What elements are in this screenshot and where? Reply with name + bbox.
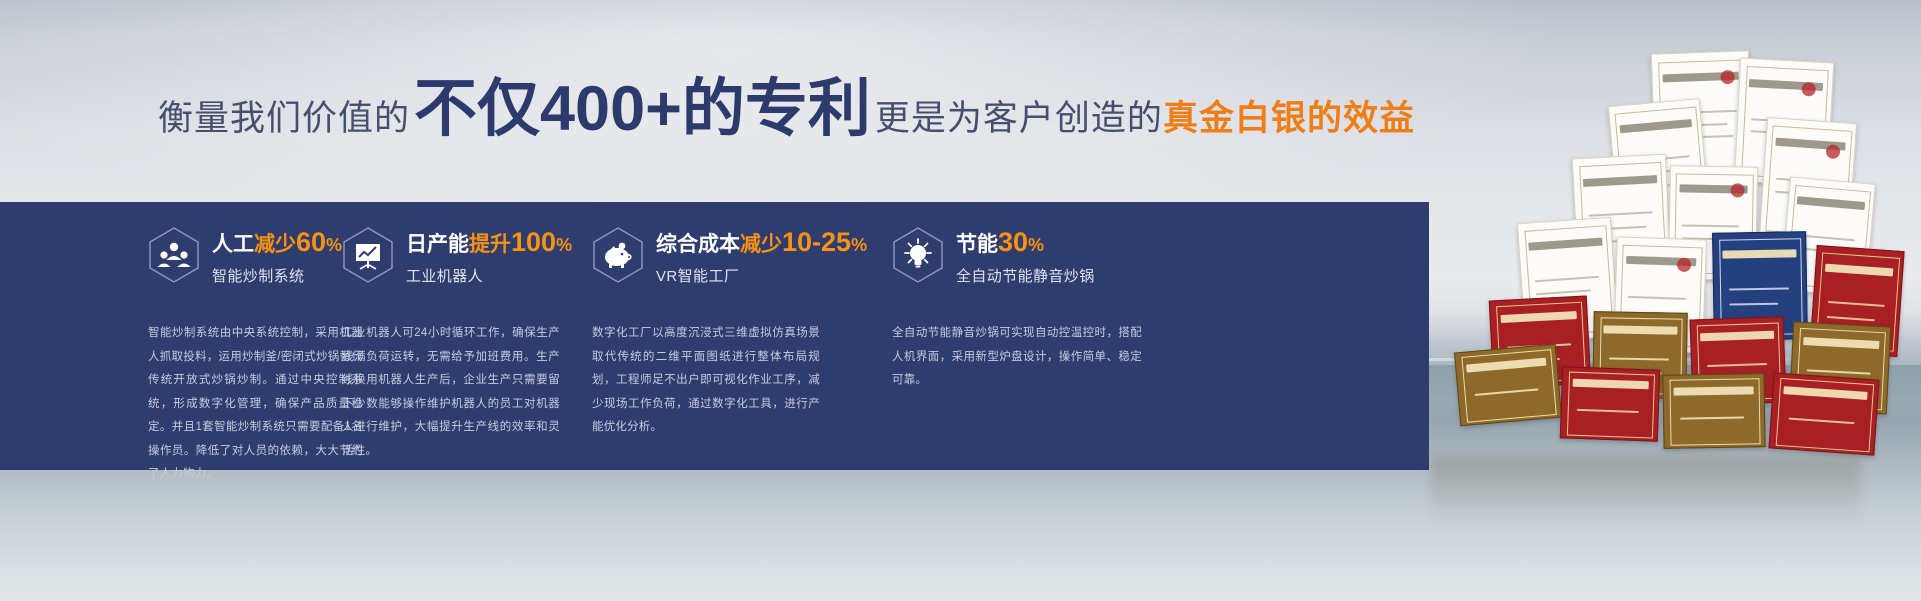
features-panel: 人工减少60% 智能炒制系统 智能炒制系统由中央系统控制，采用机器人抓取投料，运… <box>0 202 1429 470</box>
feature-header: 综合成本减少10-25% VR智能工厂 <box>592 202 882 298</box>
feature-title-number: 10-25 <box>782 227 851 257</box>
feature-title-unit: % <box>1028 235 1044 255</box>
feature-header: 日产能提升100% 工业机器人 <box>342 202 582 298</box>
headline-middle: 更是为客户创造的 <box>875 90 1163 141</box>
feature-titles: 综合成本减少10-25% VR智能工厂 <box>656 226 867 286</box>
feature-title-accent: 减少 <box>740 233 782 256</box>
feature-title: 综合成本减少10-25% <box>656 228 867 258</box>
certificate-plaque <box>1789 321 1891 414</box>
feature-title-unit: % <box>556 235 572 255</box>
feature-title: 日产能提升100% <box>406 228 572 258</box>
certificate-plaque <box>1690 316 1787 405</box>
headline-emphasis: 不仅400+的专利 <box>414 78 871 141</box>
feature-item: 人工减少60% 智能炒制系统 智能炒制系统由中央系统控制，采用机器人抓取投料，运… <box>0 202 330 470</box>
lightbulb-icon <box>892 226 944 284</box>
certificate-plaque <box>1662 373 1765 449</box>
certificate <box>1517 217 1619 343</box>
feature-title: 节能30% <box>956 228 1095 258</box>
feature-titles: 日产能提升100% 工业机器人 <box>406 226 572 286</box>
certificate <box>1759 117 1857 243</box>
certificate <box>1651 50 1753 181</box>
feature-body: 全自动节能静音炒锅可实现自动控温控时，搭配人机界面，采用新型炉盘设计，操作简单、… <box>892 322 1142 393</box>
certificate-plaque <box>1712 231 1808 341</box>
certificate-plaque <box>1489 295 1591 388</box>
feature-title-accent: 提升 <box>469 233 511 256</box>
certificate <box>1572 154 1672 283</box>
feature-title-number: 30 <box>998 227 1028 257</box>
feature-body: 工业机器人可24小时循环工作，确保生产线满负荷运转，无需给予加班费用。生产线换用… <box>342 322 560 463</box>
certificate-plaque <box>1592 311 1687 399</box>
feature-subtitle: 智能炒制系统 <box>212 265 342 286</box>
feature-item: 综合成本减少10-25% VR智能工厂 数字化工厂以高度沉浸式三维虚拟仿真场景取… <box>582 202 882 470</box>
collage-reflection <box>1431 456 1861 526</box>
feature-title-plain: 综合成本 <box>656 233 740 256</box>
feature-title-plain: 人工 <box>212 233 254 256</box>
piggy-bank-icon <box>592 226 644 284</box>
certificate-plaque <box>1768 372 1879 455</box>
certificate <box>1734 58 1834 187</box>
headline: 衡量我们价值的 不仅400+的专利 更是为客户创造的 真金白银的效益 <box>158 78 1415 141</box>
features-list: 人工减少60% 智能炒制系统 智能炒制系统由中央系统控制，采用机器人抓取投料，运… <box>0 202 1429 470</box>
feature-title: 人工减少60% <box>212 228 342 258</box>
certificate-plaque <box>1809 245 1904 357</box>
feature-subtitle: 工业机器人 <box>406 265 572 286</box>
feature-item: 节能30% 全自动节能静音炒锅 全自动节能静音炒锅可实现自动控温控时，搭配人机界… <box>882 202 1212 470</box>
feature-item: 日产能提升100% 工业机器人 工业机器人可24小时循环工作，确保生产线满负荷运… <box>330 202 582 470</box>
feature-subtitle: 全自动节能静音炒锅 <box>956 265 1095 286</box>
feature-header: 人工减少60% 智能炒制系统 <box>148 202 330 298</box>
certificate <box>1613 236 1707 353</box>
people-group-icon <box>148 226 200 284</box>
feature-title-plain: 节能 <box>956 233 998 256</box>
feature-header: 节能30% 全自动节能静音炒锅 <box>892 202 1212 298</box>
certificate-plaque <box>1454 344 1562 427</box>
feature-title-unit: % <box>851 235 867 255</box>
feature-title-number: 60 <box>296 227 326 257</box>
feature-titles: 节能30% 全自动节能静音炒锅 <box>956 226 1095 286</box>
feature-title-number: 100 <box>511 227 556 257</box>
certificate <box>1608 98 1710 228</box>
certificates-collage <box>1361 24 1921 544</box>
headline-highlight: 真金白银的效益 <box>1163 90 1415 141</box>
feature-titles: 人工减少60% 智能炒制系统 <box>212 226 342 286</box>
headline-prefix: 衡量我们价值的 <box>158 90 410 141</box>
feature-subtitle: VR智能工厂 <box>656 265 867 286</box>
certificate <box>1780 176 1876 297</box>
chart-board-icon <box>342 226 394 284</box>
feature-title-plain: 日产能 <box>406 233 469 256</box>
promo-banner: 衡量我们价值的 不仅400+的专利 更是为客户创造的 真金白银的效益 <box>0 0 1921 601</box>
feature-title-accent: 减少 <box>254 233 296 256</box>
certificate-plaque <box>1560 366 1660 441</box>
feature-body: 数字化工厂以高度沉浸式三维虚拟仿真场景取代传统的二维平面图纸进行整体布局规划，工… <box>592 322 820 440</box>
certificate <box>1668 165 1758 281</box>
